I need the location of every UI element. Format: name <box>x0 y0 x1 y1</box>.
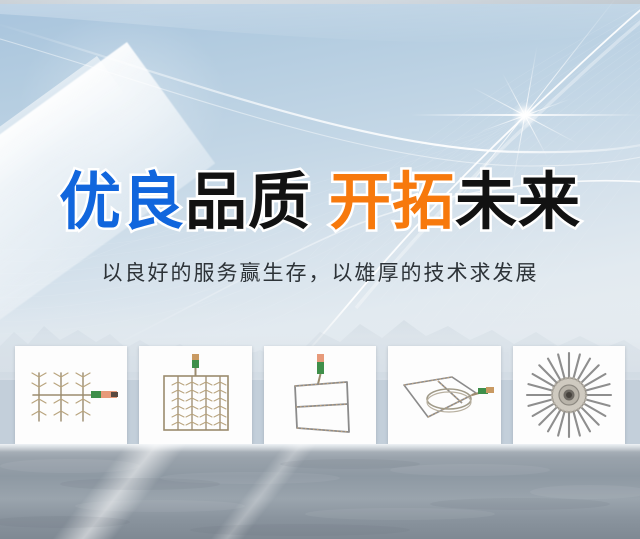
headline-segment-1: 优良 <box>59 166 185 238</box>
promo-banner: 优良品质开拓未来 以良好的服务赢生存，以雄厚的技术求发展 <box>0 0 640 539</box>
page-subtitle: 以良好的服务赢生存，以雄厚的技术求发展 <box>0 258 640 288</box>
product-thumbnail-strip <box>15 346 625 444</box>
headline-segment-4: 未来 <box>455 166 581 238</box>
product-card-ring-frame-rack[interactable] <box>388 346 500 444</box>
comb-rack-hanger-icon <box>21 353 121 437</box>
ground-surface <box>0 444 640 539</box>
product-card-multi-row-spike-rack[interactable] <box>139 346 251 444</box>
multi-row-spike-rack-icon <box>150 352 242 438</box>
headline-segment-3: 开拓 <box>329 166 455 238</box>
ground-texture <box>0 444 640 539</box>
page-title: 优良品质开拓未来 <box>0 166 640 238</box>
product-card-comb-rack-hanger[interactable] <box>15 346 127 444</box>
product-card-double-frame-rack[interactable] <box>264 346 376 444</box>
radial-spike-disc-icon <box>525 351 613 439</box>
double-frame-rack-icon <box>277 352 363 438</box>
headline-segment-2: 品质 <box>185 166 311 238</box>
product-card-radial-spike-disc[interactable] <box>513 346 625 444</box>
ring-frame-rack-icon <box>394 355 494 435</box>
